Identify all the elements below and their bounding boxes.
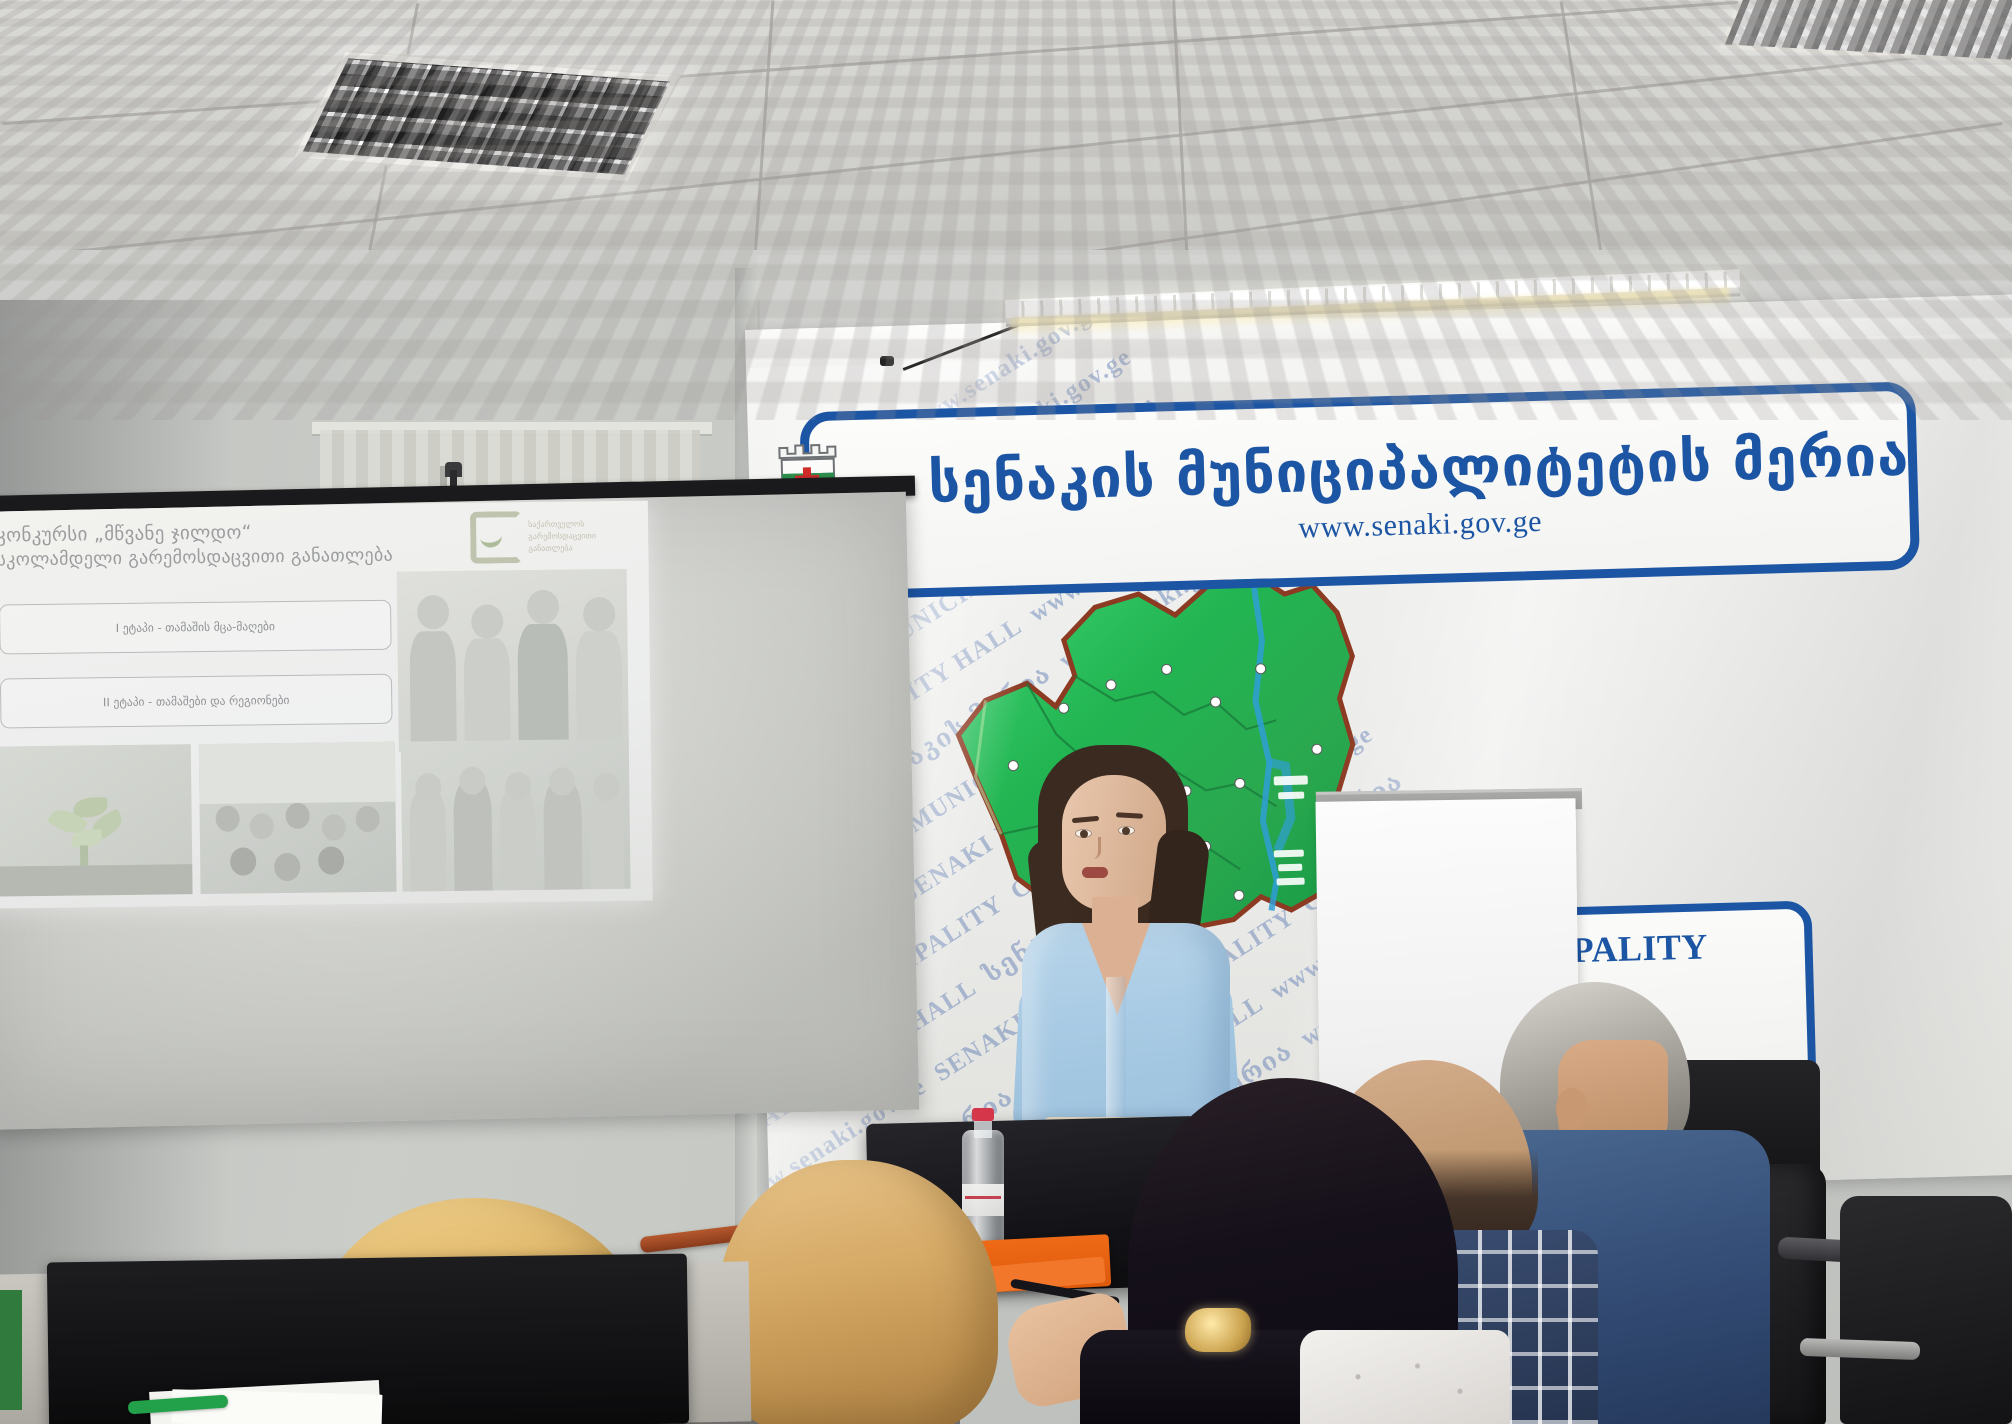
slide-logo-line3: განათლება xyxy=(528,542,596,555)
slide-logo-line1: საქართველოს xyxy=(528,518,596,531)
bottle-label xyxy=(962,1184,1004,1216)
slide-logo: საქართველოს გარემოსდაცვითი განათლება xyxy=(470,511,639,563)
bottle-cap xyxy=(972,1108,994,1121)
hair-clip-accessory xyxy=(1185,1308,1251,1352)
slide-stage-box-2: II ეტაპი - თამაშები და რეგიონები xyxy=(0,674,393,729)
presenter-pupil-right xyxy=(1122,827,1130,835)
blouse-pattern xyxy=(1324,1348,1494,1420)
slide-logo-words: საქართველოს გარემოსდაცვითი განათლება xyxy=(528,518,596,555)
conference-room-photo: სენაკის მერია SENAKI MUNICIPALITY CITY H… xyxy=(0,0,2012,1424)
projection-screen: კონკურსი „მწვანე ჯილდო“ სკოლამდელი გარემ… xyxy=(0,492,919,1130)
presenter-nose xyxy=(1086,837,1101,859)
presenter-mouth xyxy=(1082,867,1108,878)
light-wire-anchor xyxy=(880,356,894,366)
slide-photo-conference-audience xyxy=(199,742,397,894)
light-louver-grid xyxy=(303,58,670,174)
light-louver-grid-secondary xyxy=(1725,0,2012,60)
office-chair-far-right[interactable] xyxy=(1840,1196,2012,1424)
slide-title-line2: სკოლამდელი გარემოსდაცვითი განათლება xyxy=(0,543,447,573)
presenter-face-shading xyxy=(1062,775,1166,911)
slide-photo-certificate-ceremony xyxy=(401,739,631,892)
projected-slide: კონკურსი „მწვანე ჯილდო“ სკოლამდელი გარემ… xyxy=(0,501,653,909)
slide-title: კონკურსი „მწვანე ჯილდო“ სკოლამდელი გარემ… xyxy=(0,517,447,574)
banner-title-texts: სენაკის მუნიციპალიტეტის მერია www.senaki… xyxy=(927,423,1911,555)
banner-title-plate: სენაკი სენაკის მუნიციპალიტეტის მერია www… xyxy=(799,381,1920,600)
audience-grey-haired-man-ear xyxy=(1556,1088,1588,1130)
slide-logo-line2: გარემოსდაცვითი xyxy=(528,530,596,543)
slide-stage-box-1: I ეტაპი - თამაშის მცა-მაღები xyxy=(0,600,392,655)
slide-photo-office-plant xyxy=(0,744,193,896)
slide-photo-award-ceremony xyxy=(397,569,629,752)
green-object-left xyxy=(0,1290,22,1410)
presenter-blouse-placket xyxy=(1106,977,1126,1127)
slide-logo-mark-icon xyxy=(470,511,523,564)
bottle-label-stripe xyxy=(965,1196,1001,1199)
